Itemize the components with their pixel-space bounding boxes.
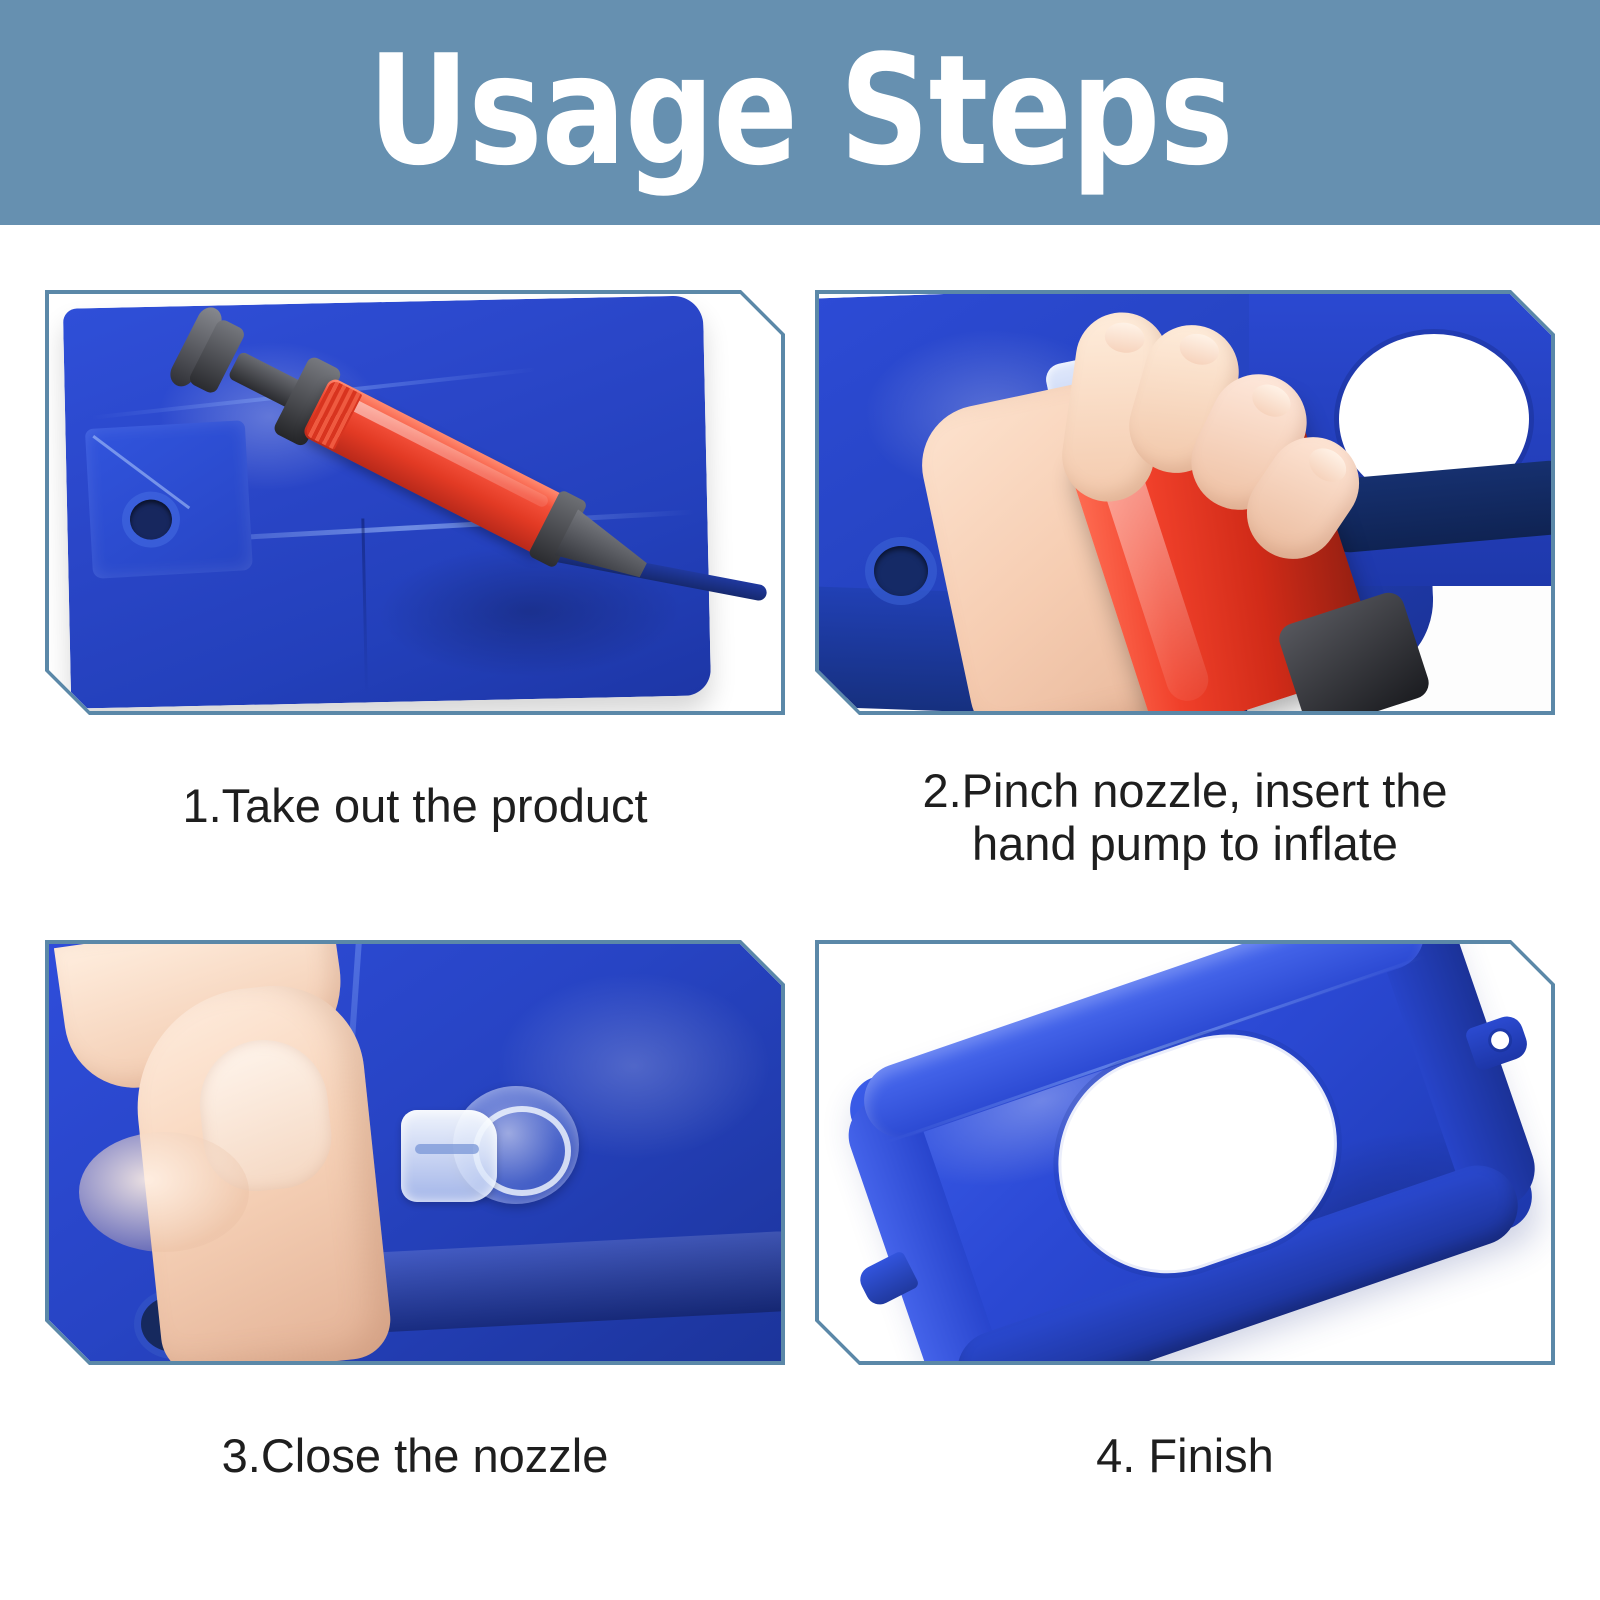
photo-frame-1 — [45, 290, 785, 715]
step-card-3 — [45, 940, 785, 1365]
usage-steps-grid: 1.Take out the product — [0, 225, 1600, 1600]
photo-inner-1 — [49, 294, 781, 711]
valve-plug — [401, 1110, 497, 1202]
finger-knuckle — [79, 1132, 249, 1252]
page-header: Usage Steps — [0, 0, 1600, 225]
step-1-caption: 1.Take out the product — [45, 780, 785, 833]
step-card-4 — [815, 940, 1555, 1365]
step-3-photo — [49, 944, 781, 1361]
fabric-flap-seam — [362, 518, 369, 694]
photo-frame-2 — [815, 290, 1555, 715]
fingernail — [1247, 378, 1296, 422]
step-card-1 — [45, 290, 785, 715]
reinforced-corner-patch — [85, 420, 253, 579]
step-1-photo — [49, 294, 781, 711]
fingernail — [1103, 320, 1147, 355]
step-4-photo — [819, 944, 1551, 1361]
photo-inner-2 — [819, 294, 1551, 711]
page-title: Usage Steps — [368, 35, 1233, 187]
step-4-caption: 4. Finish — [815, 1430, 1555, 1483]
photo-frame-4 — [815, 940, 1555, 1365]
step-2-caption: 2.Pinch nozzle, insert the hand pump to … — [815, 765, 1555, 870]
grommet-icon — [874, 546, 928, 596]
photo-frame-3 — [45, 940, 785, 1365]
photo-inner-4 — [819, 944, 1551, 1361]
step-card-2 — [815, 290, 1555, 715]
valve-plug-slit — [415, 1144, 479, 1154]
step-2-photo — [819, 294, 1551, 711]
photo-inner-3 — [49, 944, 781, 1361]
grommet-icon — [129, 498, 173, 540]
step-3-caption: 3.Close the nozzle — [45, 1430, 785, 1483]
fingernail — [1176, 329, 1223, 369]
